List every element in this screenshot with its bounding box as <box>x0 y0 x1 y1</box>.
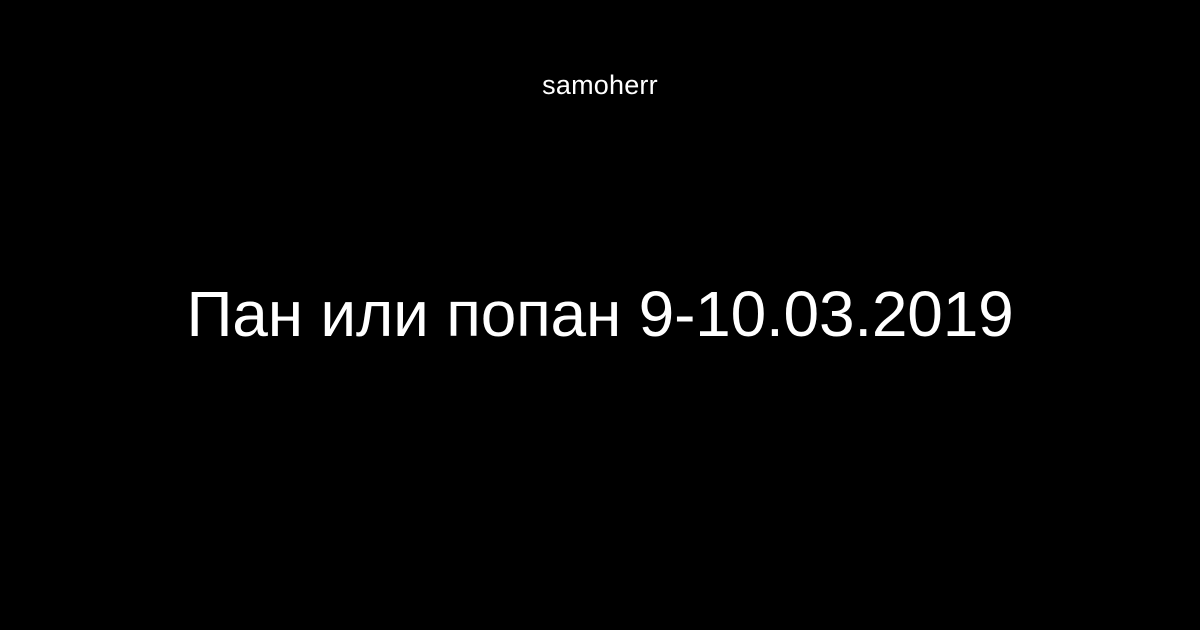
site-label-row: samoherr <box>0 72 1200 99</box>
og-preview-card: samoherr Пан или попан 9-10.03.2019 <box>0 0 1200 630</box>
site-label[interactable]: samoherr <box>542 72 658 99</box>
page-title[interactable]: Пан или попан 9-10.03.2019 <box>187 277 1014 353</box>
